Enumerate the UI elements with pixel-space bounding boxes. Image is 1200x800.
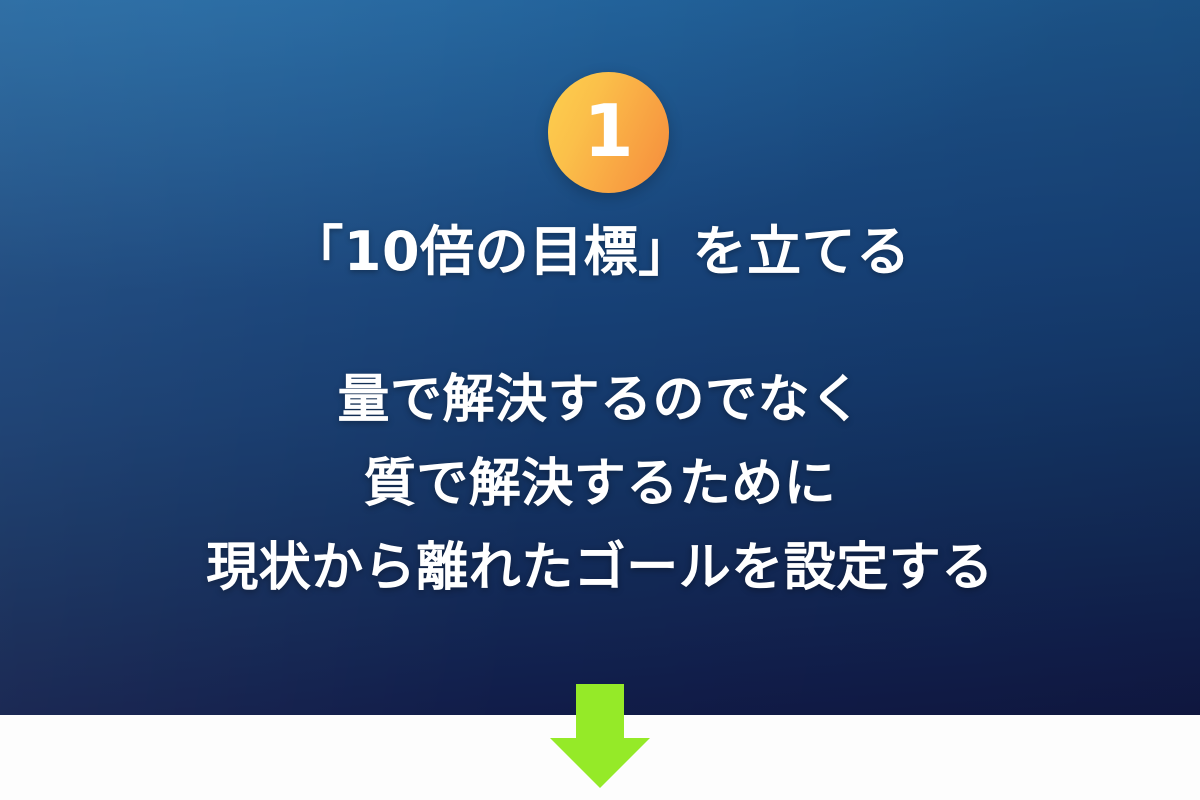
arrow-down-icon xyxy=(546,684,654,790)
body-line-1: 量で解決するのでなく xyxy=(0,358,1200,442)
step-number-badge: 1 xyxy=(548,72,669,193)
arrow-down-glyph xyxy=(546,684,654,790)
slide-title: 「10倍の目標」を立てる xyxy=(0,220,1200,284)
body-line-3: 現状から離れたゴールを設定する xyxy=(0,526,1200,610)
slide-body: 量で解決するのでなく 質で解決するために 現状から離れたゴールを設定する xyxy=(0,358,1200,610)
arrow-down-shape xyxy=(550,684,650,788)
body-line-2: 質で解決するために xyxy=(0,442,1200,526)
step-number-label: 1 xyxy=(583,95,633,167)
slide-canvas: 1 「10倍の目標」を立てる 量で解決するのでなく 質で解決するために 現状から… xyxy=(0,0,1200,800)
